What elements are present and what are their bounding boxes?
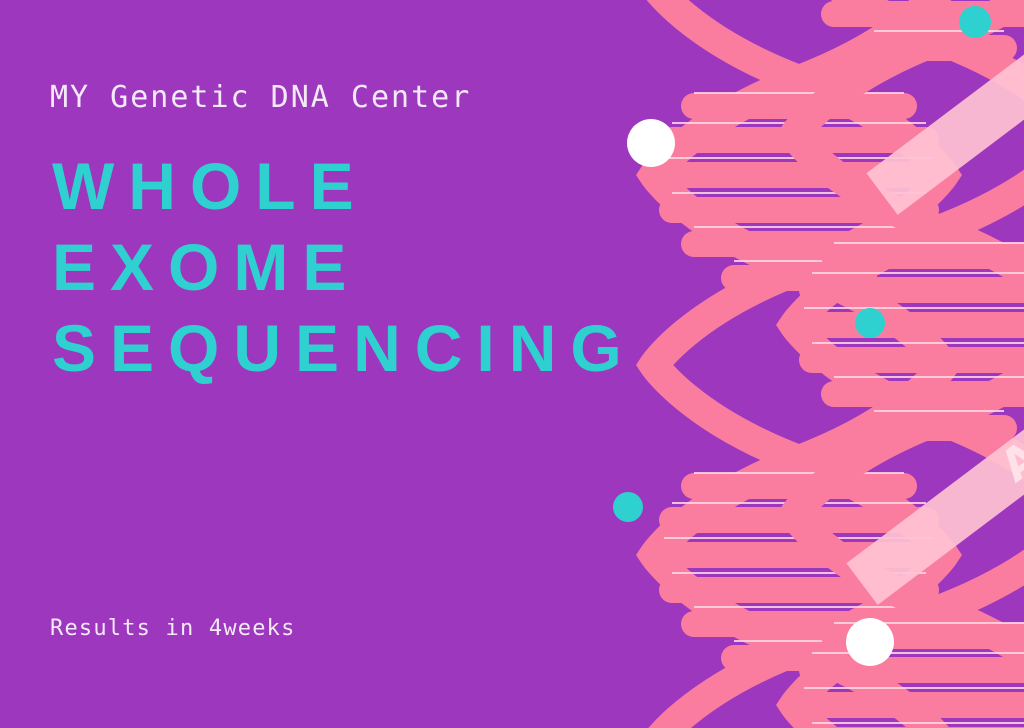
teal-dot-top-right (959, 6, 991, 38)
dna-band-lower: GNA (845, 363, 1024, 605)
headline-line-1: WHOLE (52, 146, 732, 227)
poster-canvas: GNA GNA MY Genetic DNA Center WHOLE EXOM… (0, 0, 1024, 728)
turnaround-time-note: Results in 4weeks (50, 616, 296, 641)
svg-text:GNA: GNA (991, 387, 1024, 492)
poster-text-block: MY Genetic DNA Center WHOLE EXOME SEQUEN… (50, 0, 710, 728)
white-dot-lower-right (846, 618, 894, 666)
page-title: WHOLE EXOME SEQUENCING (52, 146, 732, 389)
headline-line-3: SEQUENCING (52, 308, 732, 389)
svg-text:GNA: GNA (1011, 0, 1024, 102)
brand-name: MY Genetic DNA Center (50, 80, 471, 115)
teal-dot-middle (855, 308, 885, 338)
dna-band-upper: GNA (865, 0, 1024, 215)
headline-line-2: EXOME (52, 227, 732, 308)
